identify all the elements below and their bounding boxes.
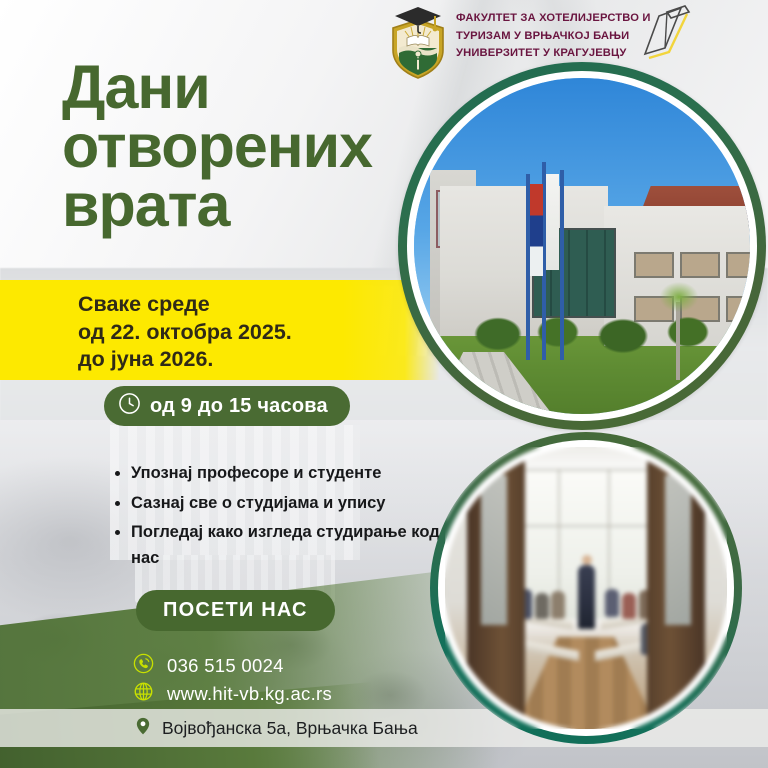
title-line-2: отворених — [62, 117, 462, 176]
title-line-1: Дани — [62, 58, 462, 117]
contact-website-row[interactable]: www.hit-vb.kg.ac.rs — [133, 680, 332, 708]
date-banner-text: Сваке среде од 22. октобра 2025. до јуна… — [78, 291, 418, 374]
website-url: www.hit-vb.kg.ac.rs — [167, 683, 332, 705]
shrub-row — [458, 304, 750, 358]
phone-number: 036 515 0024 — [167, 655, 284, 677]
date-line-1: Сваке среде — [78, 291, 418, 319]
tree-canopy — [652, 276, 706, 318]
open-book-icon — [637, 2, 713, 68]
globe-icon — [133, 681, 154, 707]
flagpole-3 — [560, 170, 564, 360]
time-badge: од 9 до 15 часова — [104, 386, 350, 426]
clock-icon — [118, 392, 141, 420]
photo-image-top — [414, 78, 750, 414]
contact-block: 036 515 0024 www.hit-vb.kg.ac.rs — [133, 652, 332, 708]
address-text: Војвођанска 5а, Врњачка Бања — [162, 718, 418, 739]
date-line-2: од 22. октобра 2025. — [78, 319, 418, 347]
poster-canvas: ФАКУЛТЕТ ЗА ХОТЕЛИЈЕРСТВО И ТУРИЗАМ У ВР… — [0, 0, 768, 768]
list-item: Сазнај све о студијама и упису — [131, 491, 442, 517]
photo-image-bottom — [445, 447, 727, 729]
list-item: Упознај професоре и студенте — [131, 461, 442, 487]
photo-classroom — [430, 432, 742, 744]
visit-us-button[interactable]: ПОСЕТИ НАС — [136, 590, 335, 631]
date-line-3: до јуна 2026. — [78, 346, 418, 374]
benefits-list: Упознај професоре и студенте Сазнај све … — [112, 461, 442, 575]
location-pin-icon — [133, 716, 153, 741]
flag-white — [546, 174, 559, 270]
flag-serbia — [530, 184, 543, 276]
photo-blur — [445, 447, 727, 729]
list-item: Погледај како изгледа студирање код нас — [131, 520, 442, 571]
phone-icon — [133, 653, 154, 679]
photo-faculty-building — [398, 62, 766, 430]
time-badge-label: од 9 до 15 часова — [150, 395, 328, 418]
contact-phone-row[interactable]: 036 515 0024 — [133, 652, 332, 680]
